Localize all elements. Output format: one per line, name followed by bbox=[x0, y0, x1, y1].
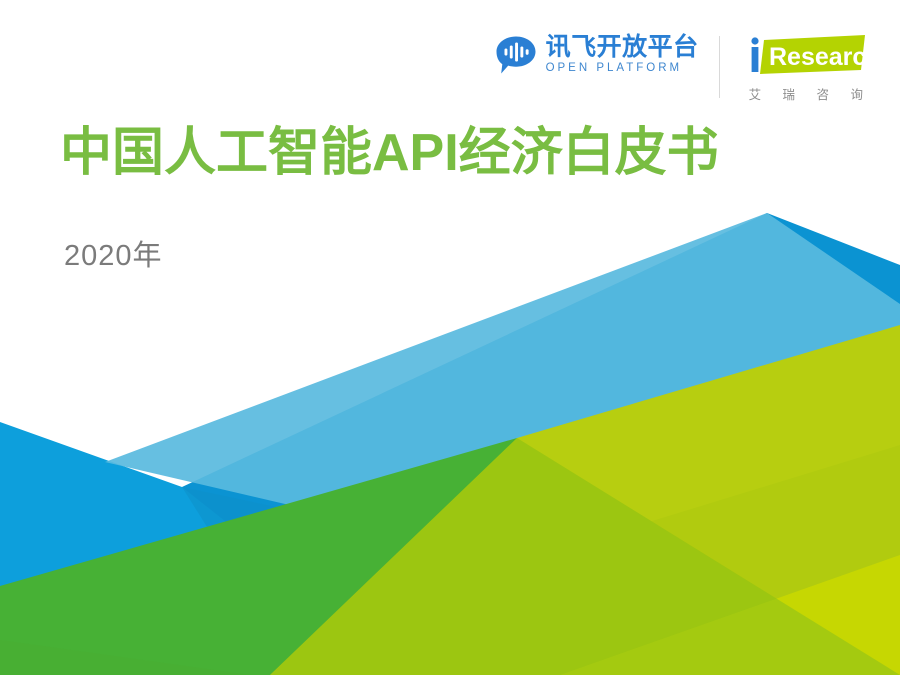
header-vertical-divider bbox=[719, 36, 720, 98]
xunfei-en-name: OPEN PLATFORM bbox=[546, 62, 699, 76]
iresearch-cn-name: 艾 瑞 咨 询 bbox=[740, 84, 872, 103]
iresearch-wordmark-icon: Research bbox=[745, 34, 867, 76]
page-title: 中国人工智能API经济白皮书 bbox=[60, 124, 719, 184]
header-logo-row: 讯飞开放平台 OPEN PLATFORM Research 艾 瑞 咨 询 bbox=[0, 34, 900, 106]
yellow-green-right-slab-shape bbox=[270, 325, 900, 675]
blue-left-mountain-shape bbox=[0, 422, 900, 675]
svg-text:Research: Research bbox=[769, 43, 867, 71]
blue-overlap-wedge-shape bbox=[182, 445, 900, 675]
xunfei-open-platform-logo[interactable]: 讯飞开放平台 OPEN PLATFORM bbox=[495, 34, 715, 76]
green-overlap-shape bbox=[270, 438, 900, 675]
xunfei-cn-name: 讯飞开放平台 bbox=[546, 34, 699, 60]
title-slide: 讯飞开放平台 OPEN PLATFORM Research 艾 瑞 咨 询 中国… bbox=[0, 0, 900, 675]
xunfei-wordmark: 讯飞开放平台 OPEN PLATFORM bbox=[546, 34, 699, 76]
speech-bubble-waveform-icon bbox=[495, 35, 537, 75]
green-bottom-left-sliver-shape bbox=[0, 640, 250, 675]
yellow-green-bottom-wedge-shape bbox=[560, 555, 900, 675]
page-subtitle: 2020年 bbox=[60, 184, 719, 274]
green-main-hill-shape bbox=[0, 438, 900, 675]
logo-block: 讯飞开放平台 OPEN PLATFORM Research 艾 瑞 咨 询 bbox=[495, 34, 900, 103]
title-block: 中国人工智能API经济白皮书 2020年 bbox=[60, 124, 719, 274]
blue-right-band-shape bbox=[182, 213, 900, 675]
iresearch-logo[interactable]: Research 艾 瑞 咨 询 bbox=[740, 34, 900, 103]
